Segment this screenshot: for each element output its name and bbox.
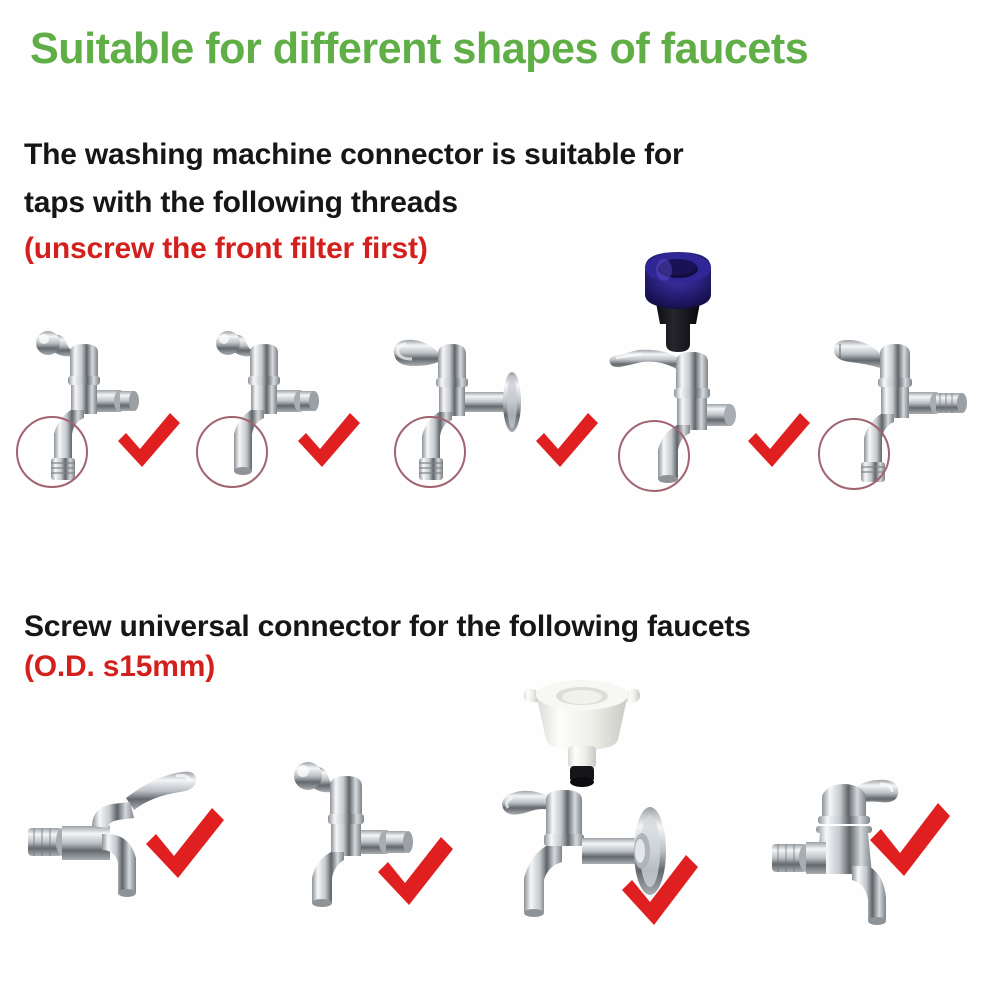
infographic-page: Suitable for different shapes of faucets… — [0, 0, 1000, 1000]
check-mark-4 — [742, 405, 814, 473]
spout-thread-highlight-ring — [618, 420, 690, 492]
check-mark-5 — [140, 800, 230, 886]
section-one-note: (unscrew the front filter first) — [24, 232, 428, 266]
section-two-line1: Screw universal connector for the follow… — [24, 610, 751, 644]
section-two-note: (O.D. s15mm) — [24, 650, 215, 684]
check-mark-7 — [616, 848, 704, 932]
spout-thread-highlight-ring — [16, 416, 88, 488]
check-mark-3 — [530, 405, 602, 473]
spout-thread-highlight-ring — [196, 416, 268, 488]
page-title: Suitable for different shapes of faucets — [30, 24, 808, 74]
check-mark-8 — [864, 796, 956, 884]
section-one-line2: taps with the following threads — [24, 186, 458, 220]
check-mark-1 — [112, 405, 184, 473]
spout-thread-highlight-ring — [818, 418, 890, 490]
check-mark-2 — [292, 405, 364, 473]
spout-thread-highlight-ring — [394, 416, 466, 488]
check-mark-6 — [372, 830, 458, 912]
section-one-line1: The washing machine connector is suitabl… — [24, 138, 683, 172]
